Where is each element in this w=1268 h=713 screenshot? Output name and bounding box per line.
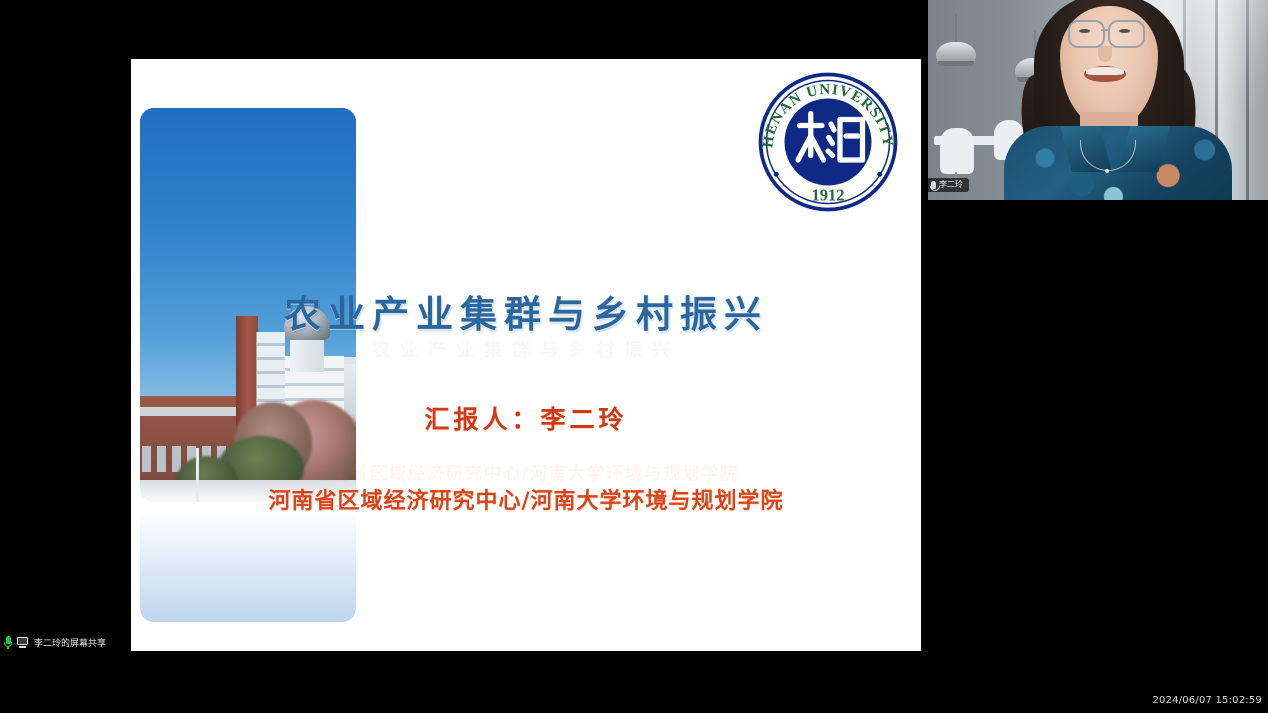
- screen-share-window: HENAN UNIVERSITY 1912: [0, 0, 1268, 713]
- screen-share-status-bar: 李二玲的屏幕共享: [4, 636, 106, 649]
- henan-university-logo: HENAN UNIVERSITY 1912: [752, 67, 904, 217]
- mouth: [1084, 66, 1126, 82]
- pendant-lamp: [936, 14, 976, 68]
- participant-video-tile[interactable]: 李二玲: [928, 0, 1268, 200]
- glasses-icon: [1108, 20, 1145, 48]
- screen-share-status-label: 李二玲的屏幕共享: [34, 637, 106, 649]
- participant-name-label: 李二玲: [939, 180, 963, 190]
- logo-year-text: 1912: [812, 186, 845, 205]
- office-chair: [940, 128, 974, 174]
- campus-photo-reflection: [140, 504, 356, 622]
- nose: [1098, 46, 1112, 62]
- microphone-stem: [7, 646, 8, 649]
- lamp-cord: [956, 14, 957, 42]
- lamp-rim: [938, 61, 974, 66]
- recording-timestamp: 2024/06/07 15:02:59: [1152, 694, 1262, 707]
- microphone-icon: [931, 181, 936, 189]
- glasses-icon: [1068, 20, 1105, 48]
- monitor-stand: [19, 646, 26, 648]
- microphone-icon[interactable]: [4, 636, 12, 649]
- sky-reflection: [140, 504, 356, 622]
- screen-share-icon[interactable]: [17, 637, 29, 648]
- glasses-bridge: [1101, 29, 1110, 31]
- campus-photo-reflection-image: [140, 504, 356, 622]
- monitor-frame: [17, 637, 28, 645]
- slide-presenter: 汇报人：李二玲: [131, 400, 921, 436]
- teeth: [1086, 67, 1124, 75]
- slide-affiliation: 河南省区域经济研究中心/河南大学环境与规划学院: [131, 483, 921, 515]
- shared-slide[interactable]: HENAN UNIVERSITY 1912: [131, 59, 921, 651]
- slide-title: 农业产业集群与乡村振兴: [131, 284, 921, 338]
- necklace-pendant: [1105, 169, 1109, 173]
- participant-nameplate: 李二玲: [928, 178, 969, 192]
